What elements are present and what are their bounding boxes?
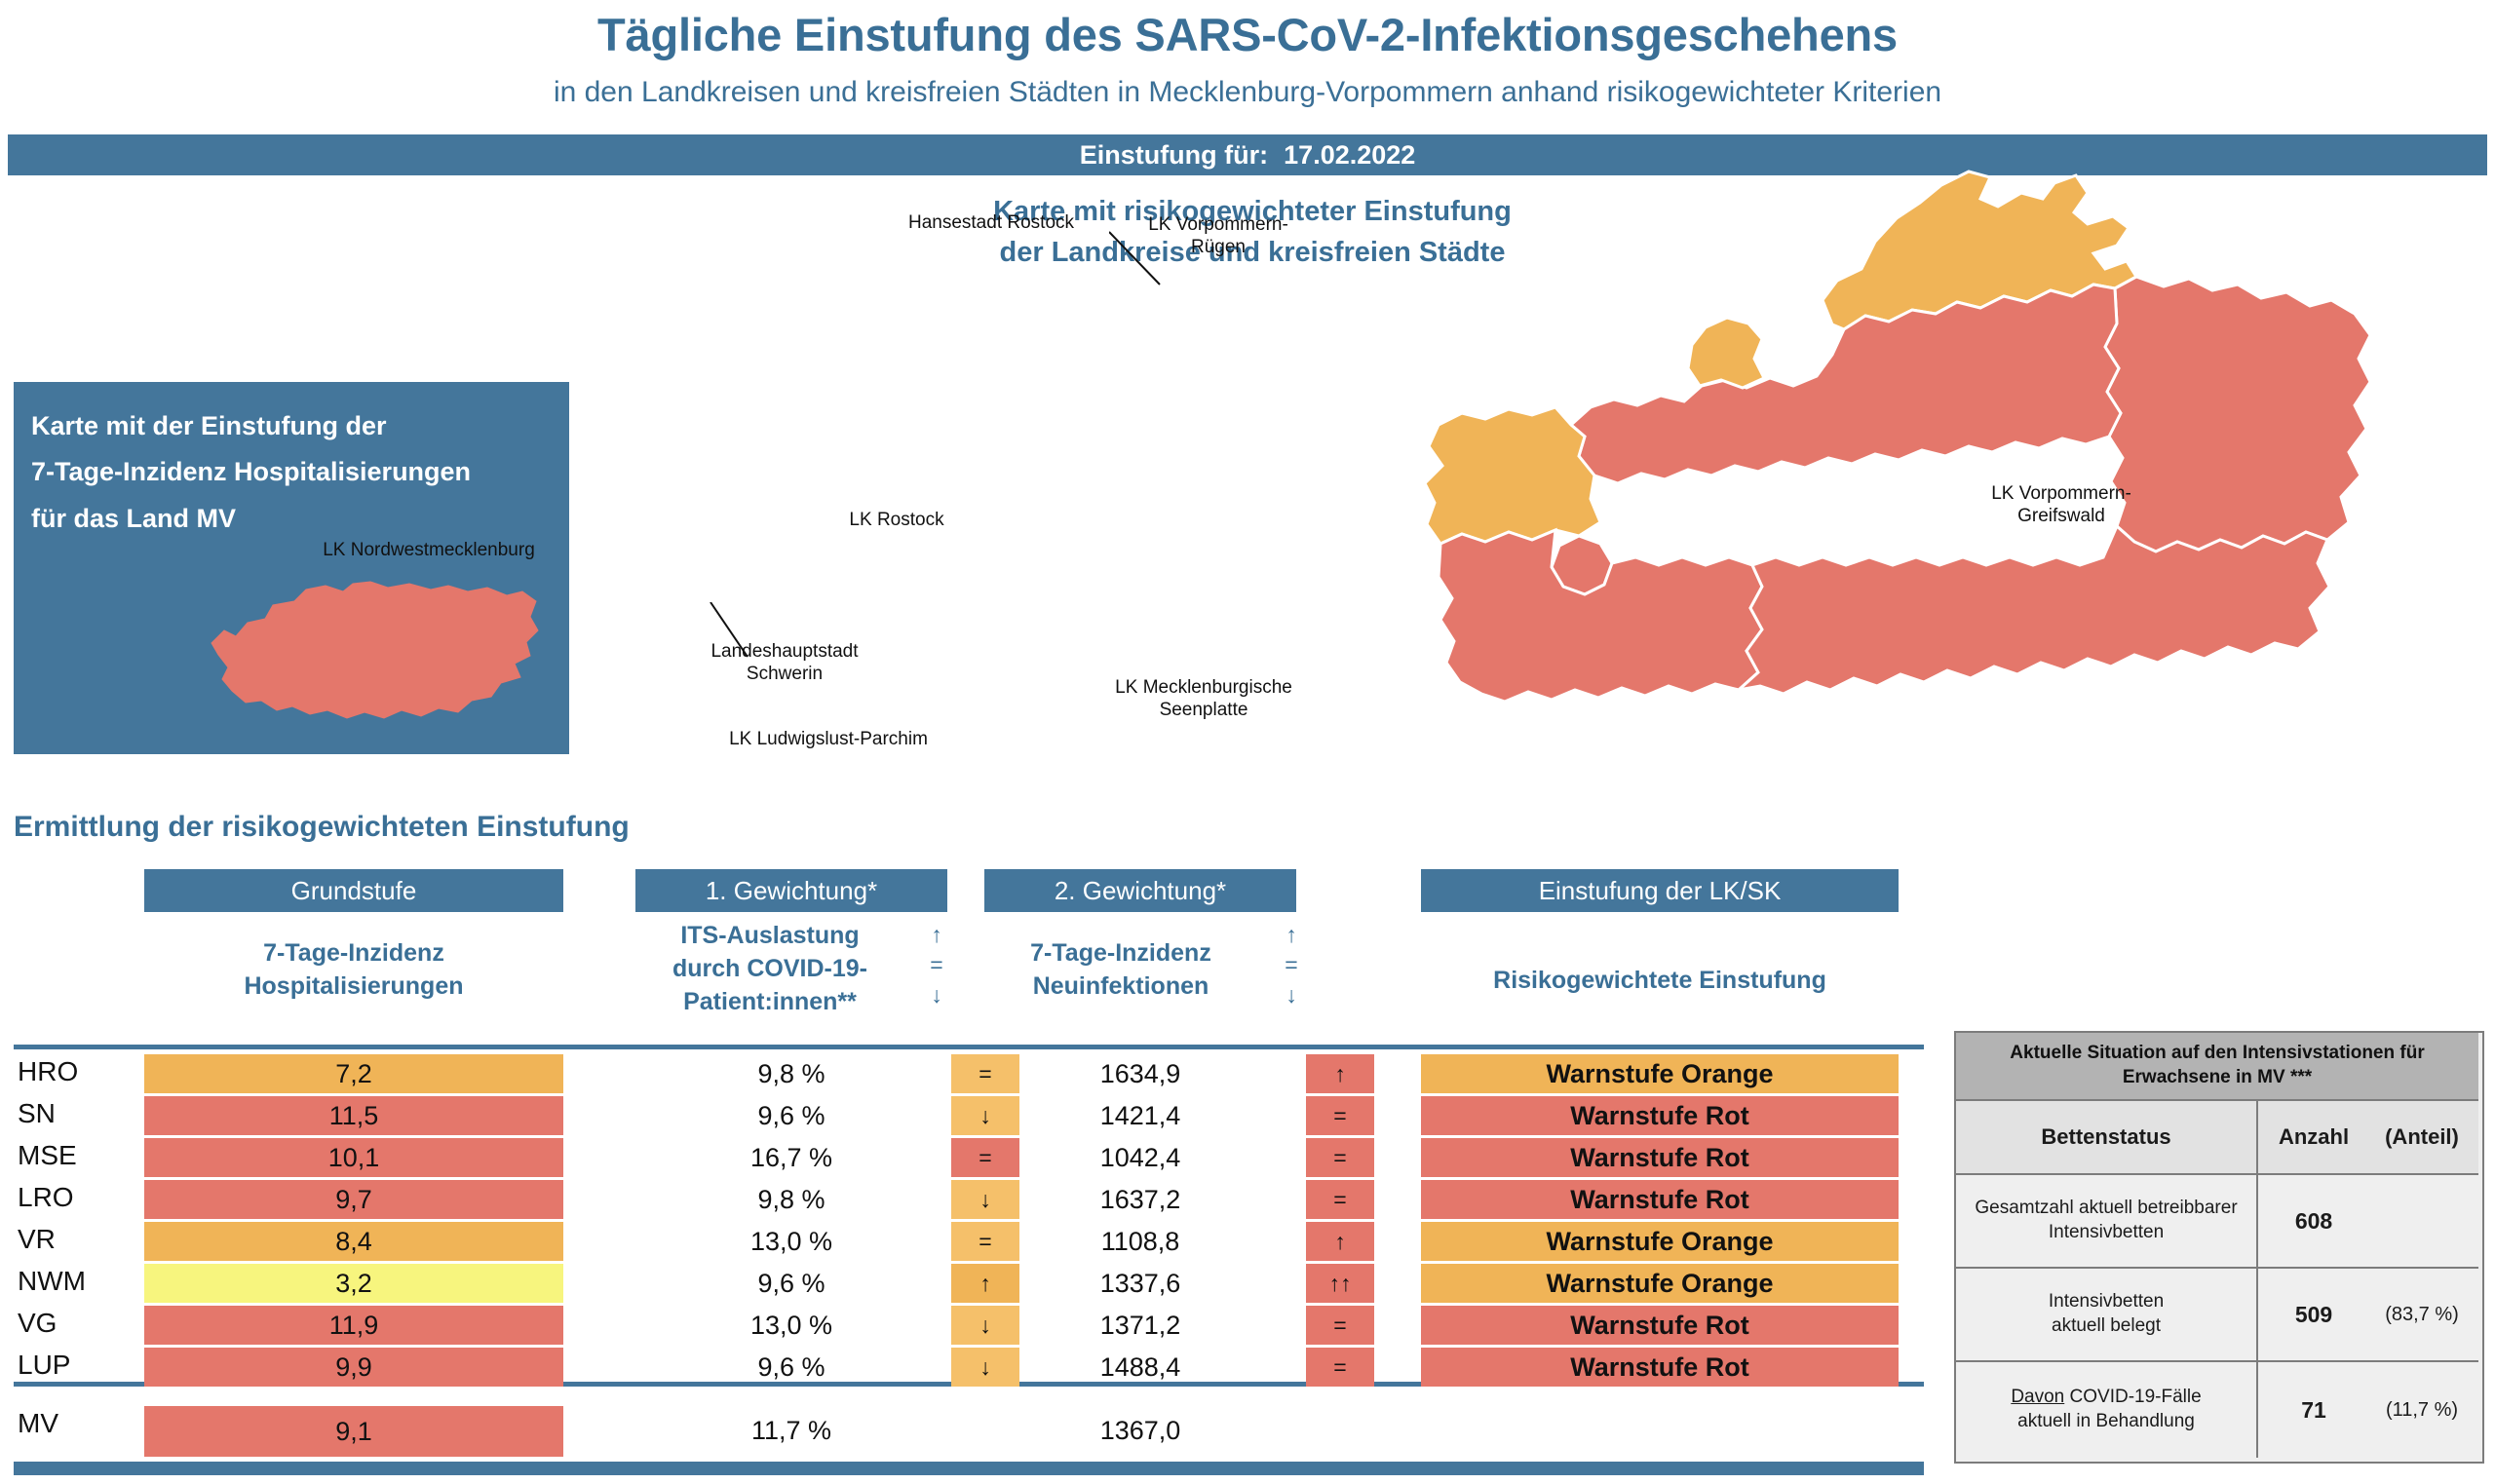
icu-header-anteil: (Anteil) — [2365, 1101, 2478, 1173]
icu-table-header-row: Bettenstatus Anzahl (Anteil) — [1956, 1101, 2478, 1175]
icu-row-share-0 — [2365, 1175, 2478, 1267]
arrow-down-icon: ↓ — [914, 980, 959, 1010]
table-row-label-0: HRO — [18, 1056, 78, 1087]
table-cell-its-4: 13,0 % — [635, 1222, 947, 1261]
table-cell-neu-3: 1637,2 — [984, 1180, 1296, 1219]
table-cell-hosp-2: 10,1 — [144, 1138, 563, 1177]
icu-title-line2: Erwachsene in MV *** — [2123, 1067, 2312, 1087]
table-top-rule — [14, 1045, 1924, 1049]
col-subheader-its-line3: Patient:innen** — [624, 986, 916, 1019]
col-header-grundstufe: Grundstufe — [144, 869, 563, 912]
table-cell-neu-trend-3: = — [1306, 1180, 1374, 1219]
table-cell-neu-1: 1421,4 — [984, 1096, 1296, 1135]
table-cell-hosp-3: 9,7 — [144, 1180, 563, 1219]
table-cell-neu-4: 1108,8 — [984, 1222, 1296, 1261]
table-cell-neu-trend-0: ↑ — [1306, 1054, 1374, 1093]
table-cell-stufe-2: Warnstufe Rot — [1421, 1138, 1899, 1177]
table-row-label-total: MV — [18, 1408, 58, 1439]
col-subheader-neu-line2: Neuinfektionen — [975, 970, 1267, 1004]
table-cell-its-3: 9,8 % — [635, 1180, 947, 1219]
arrow-down-icon-2: ↓ — [1269, 980, 1314, 1010]
table-cell-its-0: 9,8 % — [635, 1054, 947, 1093]
table-cell-stufe-7: Warnstufe Rot — [1421, 1348, 1899, 1387]
table-cell-neu-trend-6: = — [1306, 1306, 1374, 1345]
table-cell-hosp-0: 7,2 — [144, 1054, 563, 1093]
arrow-equal-icon: = — [914, 950, 959, 980]
table-cell-hosp-4: 8,4 — [144, 1222, 563, 1261]
table-row-label-6: VG — [18, 1308, 57, 1339]
table-row-label-2: MSE — [18, 1140, 77, 1171]
table-cell-its-total: 11,7 % — [635, 1411, 947, 1450]
table-cell-stufe-1: Warnstufe Rot — [1421, 1096, 1899, 1135]
map-label-ludwigslust-parchim: LK Ludwigslust-Parchim — [668, 729, 989, 751]
table-cell-stufe-4: Warnstufe Orange — [1421, 1222, 1899, 1261]
table-cell-stufe-3: Warnstufe Rot — [1421, 1180, 1899, 1219]
col-header-gewichtung-1: 1. Gewichtung* — [635, 869, 947, 912]
col-subheader-einstufung: Risikogewichtete Einstufung — [1421, 965, 1899, 998]
table-cell-its-2: 16,7 % — [635, 1138, 947, 1177]
icu-table-row-0: Gesamtzahl aktuell betreibbarer Intensiv… — [1956, 1175, 2478, 1269]
page-subtitle: in den Landkreisen und kreisfreien Städt… — [0, 76, 2495, 109]
map-label-vorpommern-ruegen: LK Vorpommern- Rügen — [1106, 214, 1330, 259]
icu-row-label-2-underline: Davon — [2011, 1387, 2064, 1407]
region-lk-mecklenburgische-seenplatte — [1739, 526, 2329, 694]
icu-header-bettenstatus: Bettenstatus — [1956, 1101, 2258, 1173]
icu-title-line1: Aktuelle Situation auf den Intensivstati… — [2010, 1043, 2424, 1063]
region-hansestadt-rostock — [1688, 318, 1764, 388]
mv-district-map: Hansestadt Rostock LK Vorpommern- Rügen … — [1150, 164, 2485, 831]
icu-row-label-0: Gesamtzahl aktuell betreibbarer Intensiv… — [1956, 1175, 2258, 1267]
table-row-label-1: SN — [18, 1098, 56, 1129]
mv-map-caption: Karte mit der Einstufung der 7-Tage-Inzi… — [31, 403, 548, 542]
table-cell-hosp-5: 3,2 — [144, 1264, 563, 1303]
mv-map-caption-line1: Karte mit der Einstufung der — [31, 403, 548, 449]
table-cell-stufe-0: Warnstufe Orange — [1421, 1054, 1899, 1093]
col-subheader-neu-line1: 7-Tage-Inzidenz — [975, 937, 1267, 970]
icu-row-label-1-line1: Intensivbetten — [2049, 1291, 2164, 1312]
icu-row-label-2-line2: aktuell in Behandlung — [2017, 1411, 2195, 1431]
section-heading: Ermittlung der risikogewichteten Einstuf… — [14, 811, 630, 844]
icu-row-label-2: Davon COVID-19-Fälle aktuell in Behandlu… — [1956, 1362, 2258, 1458]
arrow-up-icon: ↑ — [914, 920, 959, 950]
table-cell-neu-trend-4: ↑ — [1306, 1222, 1374, 1261]
icu-row-share-1: (83,7 %) — [2365, 1269, 2478, 1360]
table-cell-hosp-6: 11,9 — [144, 1306, 563, 1345]
map-label-vorpommern-greifswald: LK Vorpommern- Greifswald — [1949, 483, 2173, 528]
table-cell-neu-5: 1337,6 — [984, 1264, 1296, 1303]
col-subheader-grundstufe-line2: Hospitalisierungen — [144, 970, 563, 1004]
mv-map-panel: Karte mit der Einstufung der 7-Tage-Inzi… — [14, 382, 569, 754]
table-cell-neu-trend-1: = — [1306, 1096, 1374, 1135]
icu-panel: Aktuelle Situation auf den Intensivstati… — [1954, 1031, 2484, 1464]
icu-row-label-1: Intensivbetten aktuell belegt — [1956, 1269, 2258, 1360]
icu-row-count-1: 509 — [2260, 1269, 2367, 1360]
map-label-hansestadt-rostock: Hansestadt Rostock — [869, 212, 1113, 235]
icu-row-label-2-line1: COVID-19-Fälle — [2070, 1387, 2202, 1407]
col-subheader-its-line2: durch COVID-19- — [624, 953, 916, 986]
table-row-label-3: LRO — [18, 1182, 74, 1213]
mv-map-caption-line2: 7-Tage-Inzidenz Hospitalisierungen — [31, 449, 548, 495]
col-subheader-grundstufe: 7-Tage-Inzidenz Hospitalisierungen — [144, 937, 563, 1004]
table-cell-its-5: 9,6 % — [635, 1264, 947, 1303]
icu-row-count-2: 71 — [2260, 1362, 2367, 1458]
arrow-up-icon-2: ↑ — [1269, 920, 1314, 950]
col-header-einstufung: Einstufung der LK/SK — [1421, 869, 1899, 912]
map-label-landeshauptstadt-schwerin: Landeshauptstadt Schwerin — [663, 641, 906, 686]
map-label-lk-rostock: LK Rostock — [785, 510, 1009, 532]
table-cell-its-1: 9,6 % — [635, 1096, 947, 1135]
table-cell-neu-6: 1371,2 — [984, 1306, 1296, 1345]
icu-row-label-1-line2: aktuell belegt — [2052, 1315, 2161, 1336]
legend-arrows-gewichtung-1: ↑ = ↓ — [914, 920, 959, 1010]
table-cell-its-7: 9,6 % — [635, 1348, 947, 1387]
icu-row-label-0-line1: Gesamtzahl aktuell betreibbarer — [1975, 1198, 2237, 1218]
table-row-label-4: VR — [18, 1224, 56, 1255]
table-cell-neu-trend-7: = — [1306, 1348, 1374, 1387]
table-cell-neu-trend-5: ↑↑ — [1306, 1264, 1374, 1303]
col-header-gewichtung-2: 2. Gewichtung* — [984, 869, 1296, 912]
col-subheader-grundstufe-line1: 7-Tage-Inzidenz — [144, 937, 563, 970]
icu-row-count-0: 608 — [2260, 1175, 2367, 1267]
col-subheader-neuinfektionen: 7-Tage-Inzidenz Neuinfektionen — [975, 937, 1267, 1004]
map-label-nordwestmecklenburg: LK Nordwestmecklenburg — [268, 540, 590, 562]
col-subheader-its: ITS-Auslastung durch COVID-19- Patient:i… — [624, 920, 916, 1018]
table-row-label-5: NWM — [18, 1266, 86, 1297]
region-nordwestmecklenburg — [1425, 407, 1600, 544]
table-cell-stufe-6: Warnstufe Rot — [1421, 1306, 1899, 1345]
table-cell-neu-total: 1367,0 — [984, 1411, 1296, 1450]
icu-panel-title: Aktuelle Situation auf den Intensivstati… — [1956, 1033, 2478, 1101]
table-cell-neu-2: 1042,4 — [984, 1138, 1296, 1177]
table-cell-hosp-1: 11,5 — [144, 1096, 563, 1135]
map-label-mecklenburgische-seenplatte: LK Mecklenburgische Seenplatte — [1057, 677, 1350, 722]
footer-rule — [14, 1462, 1924, 1475]
col-subheader-its-line1: ITS-Auslastung — [624, 920, 916, 953]
mv-mini-map — [179, 562, 550, 742]
arrow-equal-icon-2: = — [1269, 950, 1314, 980]
legend-arrows-gewichtung-2: ↑ = ↓ — [1269, 920, 1314, 1010]
mv-map-caption-line3: für das Land MV — [31, 496, 548, 542]
icu-row-label-0-line2: Intensivbetten — [2049, 1222, 2164, 1242]
table-row-label-7: LUP — [18, 1350, 70, 1381]
table-cell-hosp-7: 9,9 — [144, 1348, 563, 1387]
table-cell-its-6: 13,0 % — [635, 1306, 947, 1345]
icu-header-anzahl: Anzahl — [2260, 1101, 2367, 1173]
icu-table-row-1: Intensivbetten aktuell belegt 509 (83,7 … — [1956, 1269, 2478, 1362]
table-cell-neu-7: 1488,4 — [984, 1348, 1296, 1387]
icu-table-row-2: Davon COVID-19-Fälle aktuell in Behandlu… — [1956, 1362, 2478, 1458]
table-cell-stufe-5: Warnstufe Orange — [1421, 1264, 1899, 1303]
table-cell-neu-trend-2: = — [1306, 1138, 1374, 1177]
table-cell-hosp-total: 9,1 — [144, 1406, 563, 1457]
table-cell-neu-0: 1634,9 — [984, 1054, 1296, 1093]
icu-row-share-2: (11,7 %) — [2365, 1362, 2478, 1458]
page-title: Tägliche Einstufung des SARS-CoV-2-Infek… — [0, 8, 2495, 61]
